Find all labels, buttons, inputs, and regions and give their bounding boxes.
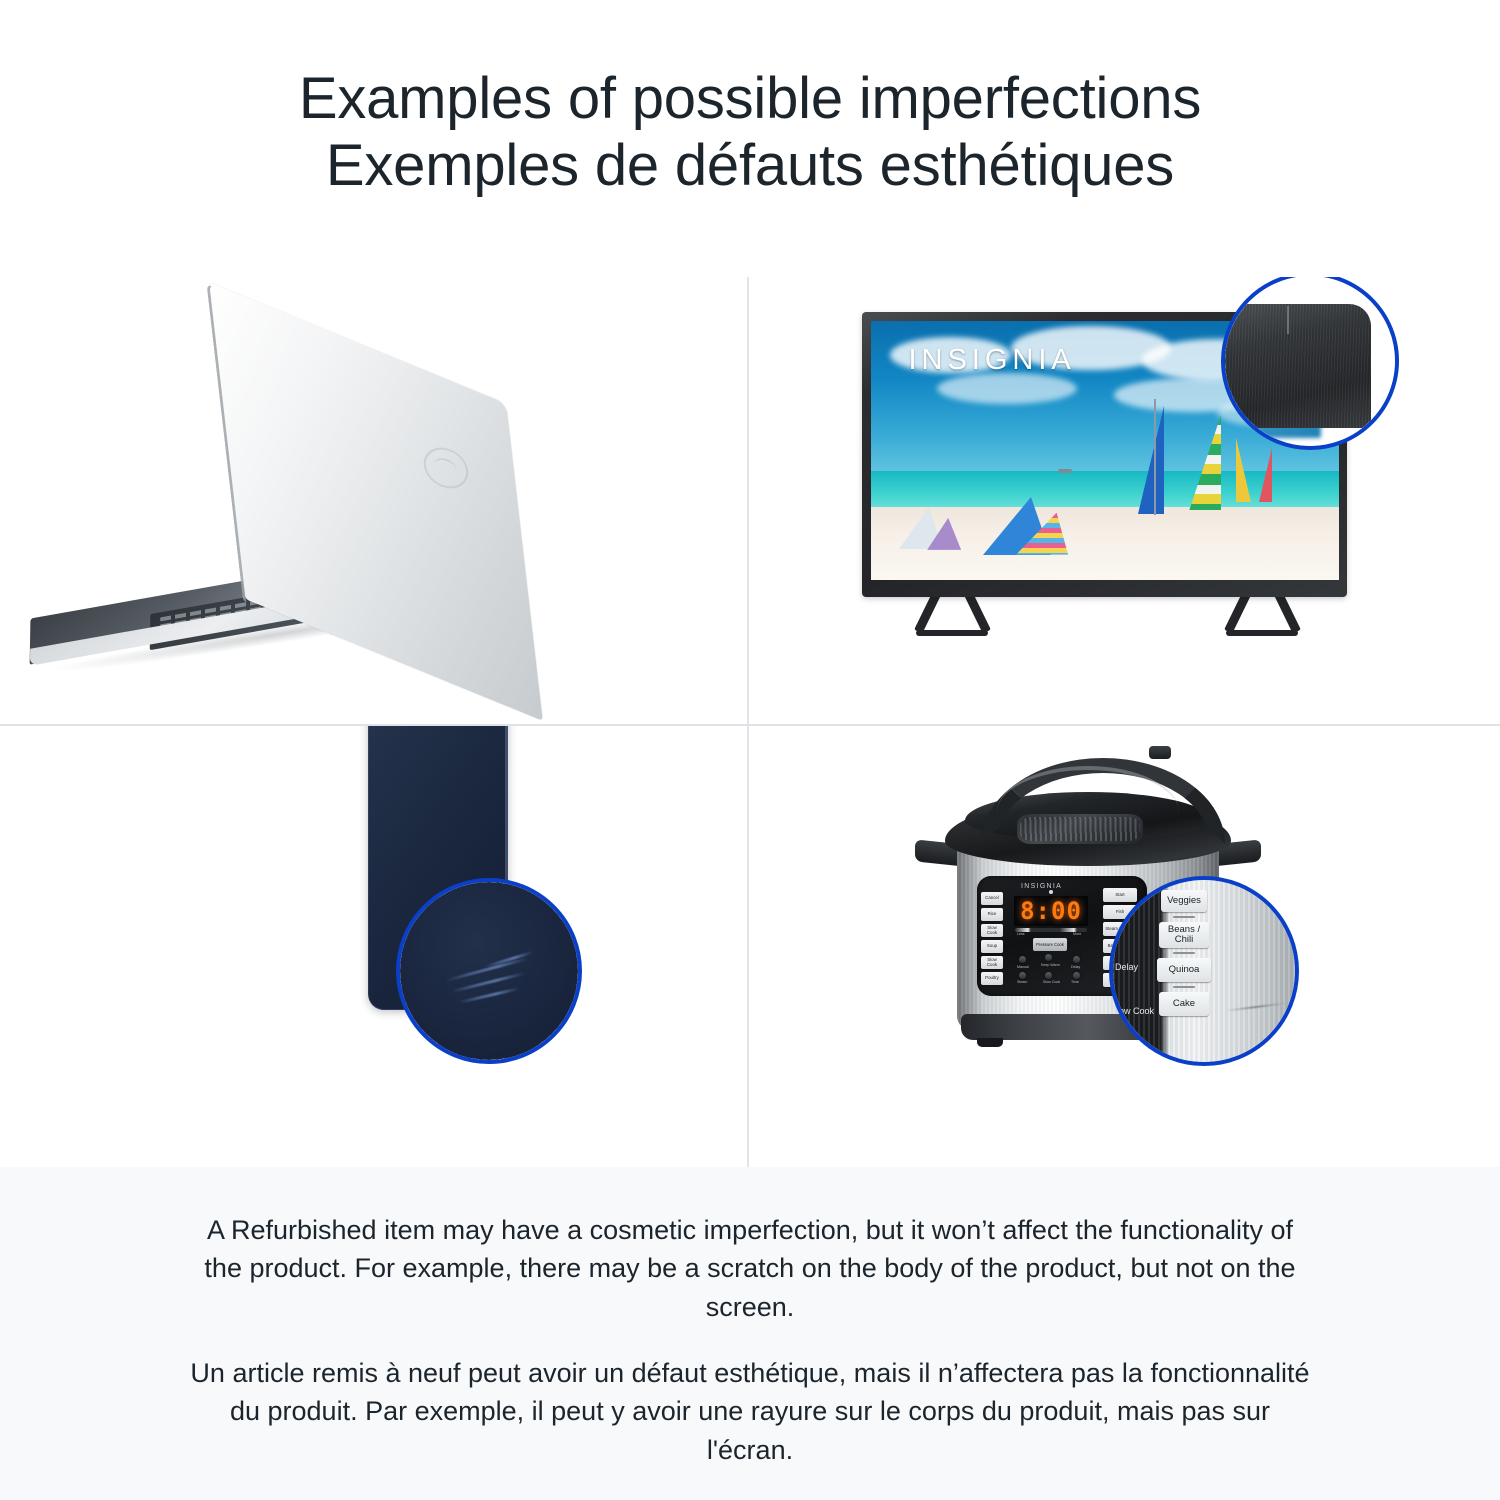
cooker-brand-label: INSIGNIA bbox=[1021, 883, 1062, 890]
cooker-left-button-column: Cancel Rice Slow Cook Soup Slow Cook Pou… bbox=[981, 892, 1003, 985]
magnifier-cooker-surface: Delay Slow Cook Veggies Beans / Chili Qu… bbox=[1113, 880, 1295, 1062]
tv-sail-red bbox=[1259, 448, 1272, 502]
cooker-key-label-time: Time bbox=[1071, 980, 1079, 984]
scratch-mark-icon bbox=[1225, 1002, 1287, 1012]
cooker-display-value: 8:00 bbox=[1020, 899, 1082, 923]
cell-television: INSIGNIA bbox=[749, 277, 1500, 724]
scratch-mark-icon-1 bbox=[445, 957, 529, 982]
cell-smartphone bbox=[0, 726, 747, 1167]
footer-paragraph-english: A Refurbished item may have a cosmetic i… bbox=[188, 1211, 1313, 1326]
page-header: Examples of possible imperfections Exemp… bbox=[0, 0, 1500, 265]
magnified-button-cake[interactable]: Cake bbox=[1159, 992, 1209, 1016]
footer-paragraph-french: Un article remis à neuf peut avoir un dé… bbox=[188, 1354, 1313, 1469]
tv-sail-mast bbox=[1154, 399, 1156, 515]
magnified-label-delay: Delay bbox=[1115, 962, 1138, 972]
cooker-key-time[interactable] bbox=[1073, 972, 1080, 979]
magnifier-phone-surface bbox=[400, 882, 578, 1060]
cooker-key-keep-warm[interactable] bbox=[1045, 954, 1052, 961]
cooker-button-left-3[interactable]: Soup bbox=[981, 940, 1003, 953]
scuff-mark-icon bbox=[1287, 306, 1289, 334]
magnified-button-quinoa[interactable]: Quinoa bbox=[1157, 958, 1211, 982]
magnifier-phone-scratches bbox=[396, 878, 582, 1064]
smartphone-illustration bbox=[0, 726, 747, 1167]
cooker-key-steam[interactable] bbox=[1019, 972, 1026, 979]
magnifier-cooker-scratch: Delay Slow Cook Veggies Beans / Chili Qu… bbox=[1109, 876, 1299, 1066]
tv-foot-left bbox=[916, 630, 988, 636]
cooker-key-label-steam: Steam bbox=[1017, 980, 1027, 984]
magnified-tv-bezel-corner bbox=[1225, 304, 1371, 428]
page-footer: A Refurbished item may have a cosmetic i… bbox=[0, 1167, 1500, 1500]
cell-laptop bbox=[0, 277, 747, 724]
cooker-key-label-manual: Manual bbox=[1017, 965, 1029, 969]
magnifier-tv-surface bbox=[1225, 277, 1395, 446]
magnified-separator-3 bbox=[1173, 986, 1195, 988]
cooker-key-label-less: Less bbox=[1017, 932, 1025, 936]
magnified-button-beans-chili[interactable]: Beans / Chili bbox=[1159, 922, 1209, 948]
cooker-indicator-light bbox=[1049, 890, 1053, 894]
cooker-button-left-5[interactable]: Poultry bbox=[981, 972, 1003, 985]
cell-pressure-cooker: INSIGNIA 8:00 Pressure Cook Less bbox=[749, 726, 1500, 1167]
cooker-key-label-keep-warm: Keep Warm bbox=[1041, 963, 1060, 967]
cooker-button-left-4[interactable]: Slow Cook bbox=[981, 956, 1003, 969]
cooker-steam-release-valve[interactable] bbox=[1149, 746, 1171, 759]
cooker-button-left-0[interactable]: Cancel bbox=[981, 892, 1003, 905]
pressure-cooker-illustration: INSIGNIA 8:00 Pressure Cook Less bbox=[749, 726, 1500, 1167]
tv-sail-blue-large bbox=[1138, 406, 1164, 514]
cooker-key-label-slow-cook: Slow Cook bbox=[1043, 980, 1060, 984]
cooker-button-left-2[interactable]: Slow Cook bbox=[981, 924, 1003, 937]
refurbished-imperfections-infographic: Examples of possible imperfections Exemp… bbox=[0, 0, 1500, 1500]
cooker-key-label-delay: Delay bbox=[1071, 965, 1080, 969]
cooker-led-display: 8:00 bbox=[1014, 896, 1088, 926]
examples-grid: INSIGNIA bbox=[0, 277, 1500, 1167]
cooker-key-label-more: More bbox=[1073, 932, 1081, 936]
page-title-english: Examples of possible imperfections bbox=[299, 66, 1201, 132]
tv-brand-logo: INSIGNIA bbox=[908, 344, 1075, 377]
magnified-label-slow-cook: Slow Cook bbox=[1113, 1006, 1154, 1016]
tv-distant-boat bbox=[1058, 469, 1072, 473]
laptop-illustration bbox=[0, 277, 747, 724]
magnified-button-veggies[interactable]: Veggies bbox=[1161, 890, 1207, 912]
cooker-button-left-1[interactable]: Rice bbox=[981, 908, 1003, 921]
magnified-separator-2 bbox=[1173, 952, 1195, 954]
television-illustration: INSIGNIA bbox=[749, 277, 1500, 724]
magnifier-tv-scuff bbox=[1221, 277, 1399, 450]
grid-divider-vertical bbox=[747, 277, 749, 1167]
tv-sail-yellow bbox=[1236, 438, 1251, 502]
cooker-key-manual[interactable] bbox=[1019, 956, 1026, 963]
cooker-key-slow-cook[interactable] bbox=[1045, 972, 1052, 979]
magnified-separator-1 bbox=[1173, 916, 1195, 918]
scratch-mark-icon-3 bbox=[458, 987, 519, 1004]
cooker-foot-left bbox=[977, 1038, 1003, 1047]
page-title-french: Exemples de défauts esthétiques bbox=[326, 133, 1174, 199]
cooker-key-delay[interactable] bbox=[1073, 956, 1080, 963]
cooker-keypad: Less More Manual Keep Warm Delay Steam S… bbox=[1017, 932, 1085, 984]
tv-foot-right bbox=[1226, 630, 1298, 636]
grid-divider-horizontal bbox=[0, 724, 1500, 726]
